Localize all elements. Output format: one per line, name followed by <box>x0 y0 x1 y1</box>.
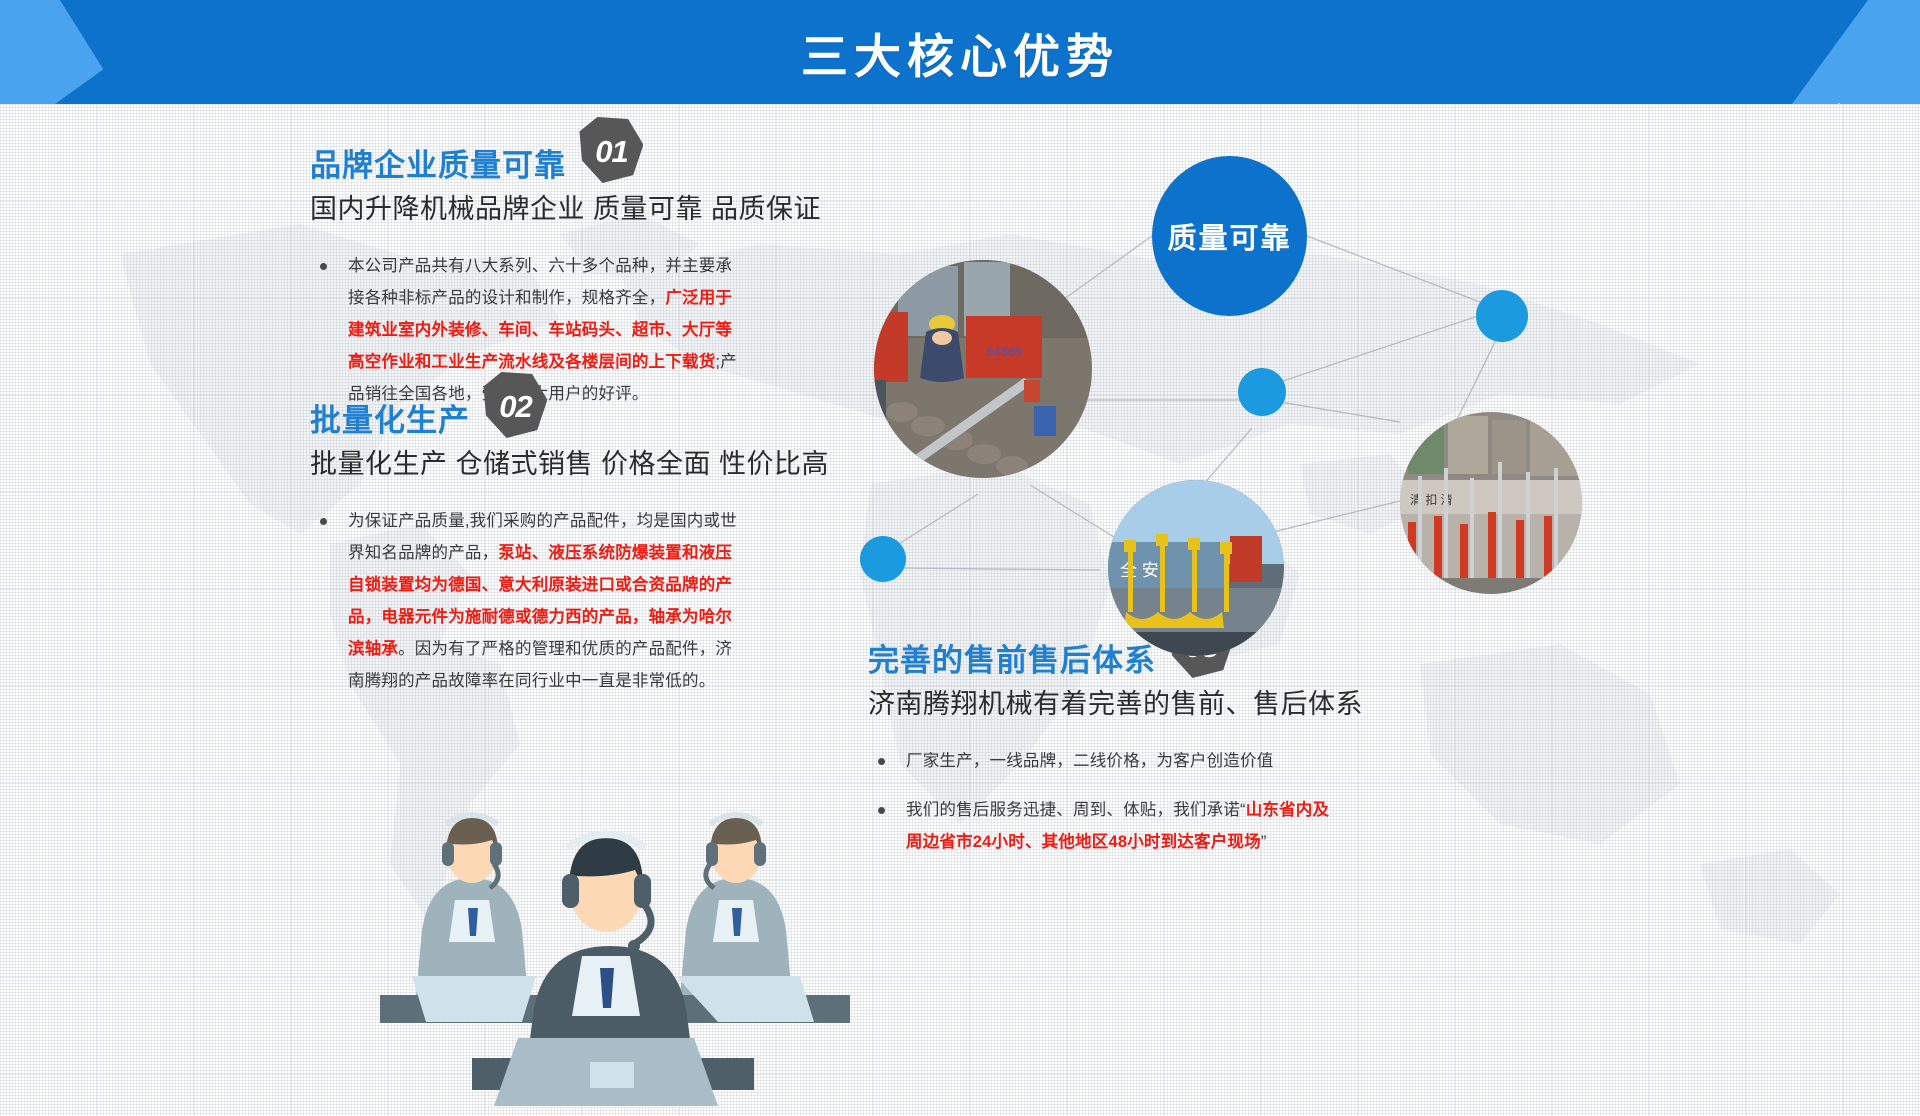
feature-header-01: 品牌企业质量可靠 01 <box>310 138 740 194</box>
network-node-blue-center <box>1238 368 1286 416</box>
feature-subtitle-02: 批量化生产 仓储式销售 价格全面 性价比高 <box>310 445 740 483</box>
poster-root: 三大核心优势 品牌企业质量可靠 01 国内升降机械品牌企业 质量可靠 品质保证 … <box>0 0 1920 1116</box>
feature-subtitle-01: 国内升降机械品牌企业 质量可靠 品质保证 <box>310 190 740 228</box>
feature-block-01: 品牌企业质量可靠 01 国内升降机械品牌企业 质量可靠 品质保证 本公司产品共有… <box>310 138 740 410</box>
body-text: 我们的售后服务迅捷、周到、体贴，我们承诺“ <box>906 801 1246 819</box>
network-photo-yard-boom-lifts: 全 安 <box>1108 480 1284 656</box>
feature-number-badge-02: 02 <box>483 372 547 438</box>
svg-text:全 安: 全 安 <box>1120 561 1159 580</box>
svg-text:64365: 64365 <box>986 344 1022 359</box>
network-node-blue-left <box>860 536 906 582</box>
feature-title-02: 批量化生产 <box>310 393 470 449</box>
feature-block-02: 批量化生产 02 批量化生产 仓储式销售 价格全面 性价比高 为保证产品质量,我… <box>310 393 740 697</box>
feature-block-03: 完善的售前售后体系 03 济南腾翔机械有着完善的售前、售后体系 厂家生产，一线品… <box>868 633 1338 858</box>
bullet-item: 厂家生产，一线品牌，二线价格，为客户创造价值 <box>868 745 1338 777</box>
customer-service-illustration <box>350 780 870 1116</box>
network-hub-node: 质量可靠 <box>1152 156 1307 316</box>
network-photo-factory-worker: 64365 <box>874 260 1092 478</box>
body-text: 。因为有了严格的管理和优质的产品配件，济南腾翔的产品故障率在同行业中一直是非常低… <box>348 640 732 690</box>
page-title: 三大核心优势 <box>0 0 1920 104</box>
feature-title-01: 品牌企业质量可靠 <box>310 138 566 194</box>
feature-number-badge-01: 01 <box>579 117 643 183</box>
network-diagram: 质量可靠 64365 <box>860 150 1580 650</box>
network-photo-storefront-lifts: 清 扣 清 <box>1400 412 1582 594</box>
feature-bullets-03: 厂家生产，一线品牌，二线价格，为客户创造价值 我们的售后服务迅捷、周到、体贴，我… <box>868 745 1338 858</box>
body-text: ” <box>1261 833 1267 851</box>
feature-bullets-02: 为保证产品质量,我们采购的产品配件，均是国内或世界知名品牌的产品，泵站、液压系统… <box>310 505 740 697</box>
network-hub-label: 质量可靠 <box>1167 215 1291 257</box>
bullet-item: 为保证产品质量,我们采购的产品配件，均是国内或世界知名品牌的产品，泵站、液压系统… <box>310 505 740 697</box>
body-text: 厂家生产，一线品牌，二线价格，为客户创造价值 <box>906 752 1273 770</box>
header-banner: 三大核心优势 <box>0 0 1920 104</box>
feature-number-label-02: 02 <box>483 372 547 438</box>
feature-subtitle-03: 济南腾翔机械有着完善的售前、售后体系 <box>868 685 1338 723</box>
network-node-blue-right <box>1476 290 1528 342</box>
feature-header-02: 批量化生产 02 <box>310 393 740 449</box>
feature-number-label-01: 01 <box>579 117 643 183</box>
bullet-item: 我们的售后服务迅捷、周到、体贴，我们承诺“山东省内及周边省市24小时、其他地区4… <box>868 794 1338 858</box>
